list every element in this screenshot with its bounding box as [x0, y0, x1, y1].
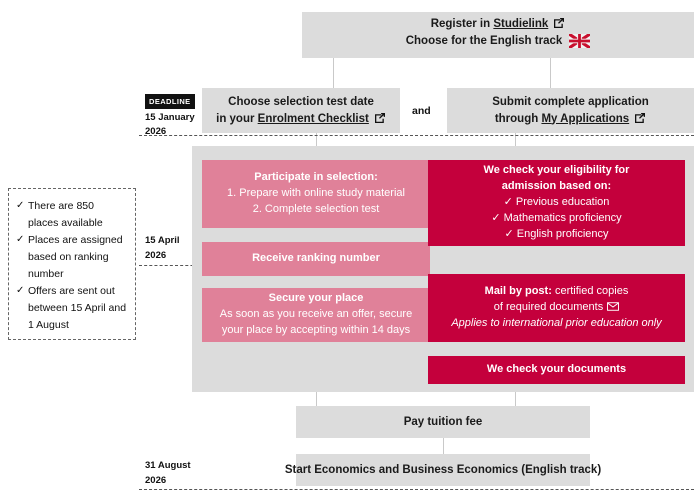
secure-line-1: Secure your place: [269, 291, 364, 307]
deadline-april-date: 15 April: [145, 235, 180, 246]
check-icon: ✓: [16, 232, 24, 248]
external-link-icon[interactable]: [553, 17, 565, 29]
receive-ranking-number-box: Receive ranking number: [202, 242, 430, 276]
deadline-rule-january: [139, 135, 694, 136]
and-connector-label: and: [412, 105, 431, 117]
secure-your-place-box: Secure your place As soon as you receive…: [202, 288, 430, 342]
mail-line-3: Applies to international prior education…: [451, 316, 661, 332]
connector-tuition-to-start: [443, 438, 444, 454]
participate-in-selection-box: Participate in selection: 1. Prepare wit…: [202, 160, 430, 228]
deadline-january-date: 15 January: [145, 112, 195, 123]
deadline-rule-august: [139, 489, 694, 490]
note-item-text: Offers are sent out between 15 April and…: [28, 285, 126, 331]
studielink-link[interactable]: Studielink: [493, 18, 548, 30]
mail-line-1: Mail by post: certified copies: [485, 284, 629, 300]
eligibility-item-2: ✓ English proficiency: [505, 227, 609, 243]
register-line-1: Register in Studielink: [431, 16, 566, 33]
deadline-january: DEADLINE 15 January 2026: [145, 94, 195, 140]
mail-by-post-box: Mail by post: certified copies of requir…: [428, 274, 685, 342]
connector-register-to-submit: [550, 58, 551, 88]
envelope-icon: [607, 301, 619, 317]
submit-line-2: through My Applications: [495, 111, 646, 128]
deadline-january-year: 2026: [145, 126, 166, 137]
list-item: ✓Offers are sent out between 15 April an…: [16, 283, 127, 334]
external-link-icon[interactable]: [634, 112, 646, 124]
list-item: ✓Places are assigned based on ranking nu…: [16, 232, 127, 283]
register-line-2: Choose for the English track: [406, 33, 591, 54]
check-docs-line-1: We check your documents: [487, 362, 626, 378]
deadline-april: 15 April 2026: [145, 234, 180, 263]
register-studielink-box[interactable]: Register in Studielink Choose for the En…: [302, 12, 694, 58]
eligibility-check-box: We check your eligibility for admission …: [428, 160, 685, 246]
check-icon: ✓: [504, 196, 513, 208]
tuition-line-1: Pay tuition fee: [404, 414, 483, 431]
deadline-april-year: 2026: [145, 250, 166, 261]
flowchart-canvas: Register in Studielink Choose for the En…: [0, 0, 700, 498]
external-link-icon[interactable]: [374, 112, 386, 124]
eligibility-item-0: ✓ Previous education: [504, 195, 610, 211]
start-programme-box: Start Economics and Business Economics (…: [296, 454, 590, 486]
connector-register-to-choose: [333, 58, 334, 88]
choose-test-line-2: in your Enrolment Checklist: [216, 111, 386, 128]
deadline-august: 31 August 2026: [145, 459, 191, 488]
eligibility-line-2: admission based on:: [502, 179, 611, 195]
choose-selection-test-box[interactable]: Choose selection test date in your Enrol…: [202, 88, 400, 133]
participate-line-2: 1. Prepare with online study material: [227, 186, 405, 202]
participate-line-3: 2. Complete selection test: [253, 202, 380, 218]
check-icon: ✓: [16, 283, 24, 299]
check-icon: ✓: [491, 212, 500, 224]
participate-line-1: Participate in selection:: [254, 170, 377, 186]
pay-tuition-fee-box: Pay tuition fee: [296, 406, 590, 438]
eligibility-item-1: ✓ Mathematics proficiency: [491, 211, 621, 227]
submit-application-box[interactable]: Submit complete application through My A…: [447, 88, 694, 133]
enrolment-checklist-link[interactable]: Enrolment Checklist: [258, 113, 369, 125]
deadline-august-year: 2026: [145, 475, 166, 486]
note-item-text: There are 850 places available: [28, 200, 103, 229]
my-applications-link[interactable]: My Applications: [541, 113, 629, 125]
uk-flag-icon: [569, 34, 590, 54]
check-icon: ✓: [16, 198, 24, 214]
list-item: ✓There are 850 places available: [16, 198, 127, 232]
we-check-documents-box: We check your documents: [428, 356, 685, 384]
eligibility-line-1: We check your eligibility for: [484, 163, 630, 179]
places-info-list: ✓There are 850 places available ✓Places …: [16, 198, 127, 334]
secure-line-2: As soon as you receive an offer, secure: [220, 307, 412, 323]
submit-line-1: Submit complete application: [492, 94, 649, 111]
secure-line-3: your place by accepting within 14 days: [222, 323, 410, 339]
mail-line-2: of required documents: [494, 300, 619, 317]
start-line-1: Start Economics and Business Economics (…: [285, 462, 601, 479]
places-info-note: ✓There are 850 places available ✓Places …: [8, 188, 136, 340]
deadline-badge: DEADLINE: [145, 94, 195, 109]
choose-test-line-1: Choose selection test date: [228, 94, 374, 111]
note-item-text: Places are assigned based on ranking num…: [28, 234, 123, 280]
check-icon: ✓: [505, 228, 514, 240]
ranking-line-1: Receive ranking number: [252, 251, 380, 267]
deadline-august-date: 31 August: [145, 460, 191, 471]
